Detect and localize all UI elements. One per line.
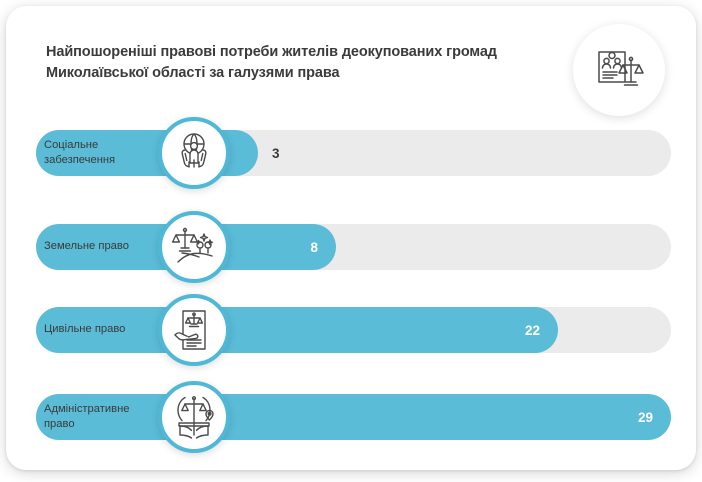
page-title: Найпошореніші правові потреби жителів де… bbox=[46, 42, 566, 84]
table-row: Цивільне право 22 bbox=[6, 307, 696, 353]
document-scales-hand-icon bbox=[158, 294, 230, 366]
table-row: Адміністративне право 29 bbox=[6, 394, 696, 440]
bar-value: 8 bbox=[310, 224, 318, 270]
card-header: Найпошореніші правові потреби жителів де… bbox=[6, 6, 696, 118]
scales-land-trees-icon bbox=[158, 211, 230, 283]
bar-label: Адміністративне право bbox=[44, 394, 129, 440]
infographic-card: Найпошореніші правові потреби жителів де… bbox=[6, 6, 696, 470]
document-people-scales-icon bbox=[573, 24, 665, 116]
table-row: Земельне право 8 bbox=[6, 224, 696, 270]
scales-book-pin-icon bbox=[158, 381, 230, 453]
bar-value: 3 bbox=[272, 130, 280, 176]
bar-fill bbox=[36, 394, 671, 440]
bar-label: Земельне право bbox=[44, 224, 129, 270]
bar-value: 22 bbox=[525, 307, 540, 353]
bar-value: 29 bbox=[638, 394, 653, 440]
bar-label: Цивільне право bbox=[44, 307, 125, 353]
table-row: Соціальне забезпечення 3 bbox=[6, 130, 696, 176]
bar-label: Соціальне забезпечення bbox=[44, 130, 115, 176]
globe-in-hands-icon bbox=[158, 117, 230, 189]
